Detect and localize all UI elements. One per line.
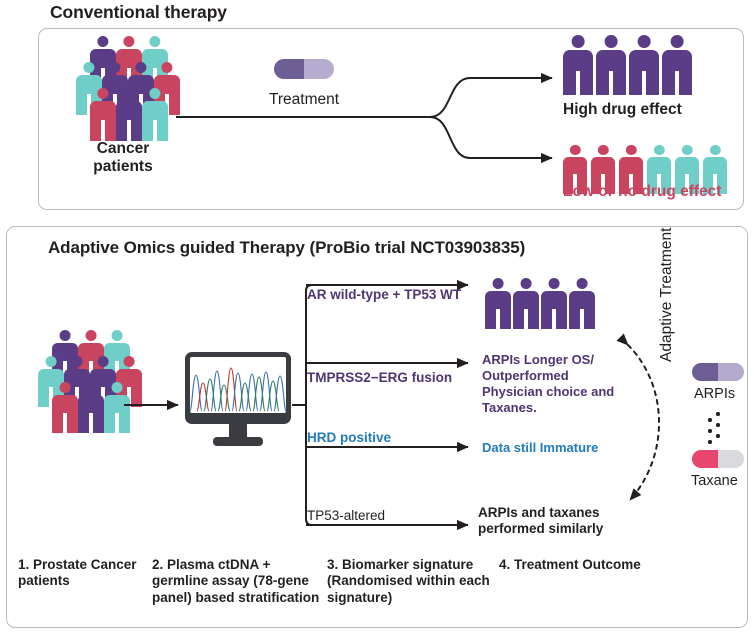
arpi-treatment-label: ARPIs	[694, 386, 735, 404]
caption-step-3: 3. Biomarker signature (Randomised withi…	[327, 557, 497, 606]
person-icon	[541, 278, 567, 329]
person-icon	[104, 382, 130, 433]
caption-step-4: 4. Treatment Outcome	[499, 557, 674, 573]
cancer-patients-label-line2: patients	[63, 158, 183, 176]
person-icon	[596, 35, 626, 95]
person-icon	[52, 382, 78, 433]
person-icon	[116, 88, 142, 141]
high-drug-effect-group	[563, 35, 703, 97]
treatment-label: Treatment	[249, 91, 359, 109]
high-drug-effect-label: High drug effect	[563, 101, 682, 120]
branch-label-ar-wildtype: AR wild-type + TP53 WT	[307, 287, 461, 303]
person-icon	[90, 88, 116, 141]
person-icon	[78, 382, 104, 433]
person-icon	[569, 278, 595, 329]
treatment-connector-dots	[707, 412, 727, 444]
branch-label-tmprss2-erg: TMPRSS2−ERG fusion	[307, 370, 452, 386]
adaptive-therapy-title: Adaptive Omics guided Therapy (ProBio tr…	[48, 238, 525, 258]
person-icon	[629, 35, 659, 95]
cancer-patients-label-line1: Cancer	[63, 140, 183, 158]
conventional-therapy-title: Conventional therapy	[50, 2, 227, 23]
outcome-arpi-taxane-similar: ARPIs and taxanes performed similarly	[478, 505, 638, 538]
responder-group	[485, 278, 593, 330]
adaptive-treatment-label: Adaptive Treatment	[658, 212, 676, 362]
person-icon	[485, 278, 511, 329]
branch-label-tp53-altered: TP53-altered	[307, 508, 385, 524]
taxane-pill-icon	[692, 450, 744, 468]
arpi-pill-icon	[692, 363, 744, 381]
figure-canvas: Conventional therapy Cancer patients Tre…	[0, 0, 754, 635]
caption-step-1: 1. Prostate Cancer patients	[18, 557, 153, 590]
person-icon	[142, 88, 168, 141]
low-drug-effect-label: Low or no drug effect	[563, 183, 721, 202]
sequencing-monitor-icon	[185, 352, 291, 452]
outcome-arpi-longer-os: ARPIs Longer OS/ Outperformed Physician …	[482, 352, 618, 415]
cancer-patients-crowd	[68, 36, 178, 141]
branch-label-hrd-positive: HRD positive	[307, 430, 391, 446]
prostate-cancer-patients-crowd	[30, 330, 138, 435]
chromatogram-trace	[190, 357, 286, 413]
treatment-pill-icon	[274, 59, 334, 79]
person-icon	[662, 35, 692, 95]
person-icon	[513, 278, 539, 329]
person-icon	[563, 35, 593, 95]
cancer-patients-label: Cancer patients	[63, 140, 183, 177]
taxane-treatment-label: Taxane	[691, 473, 738, 491]
outcome-data-immature: Data still Immature	[482, 440, 632, 456]
caption-step-2: 2. Plasma ctDNA + germline assay (78-gen…	[152, 557, 327, 606]
